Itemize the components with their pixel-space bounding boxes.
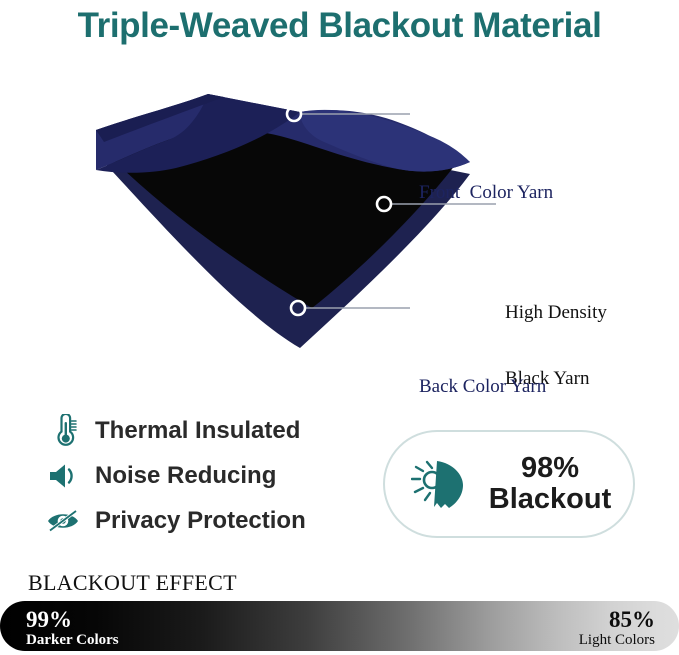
darker-colors-label: Darker Colors: [26, 633, 119, 649]
feature-item-privacy-protection: Privacy Protection: [44, 498, 354, 543]
title-bar: Triple-Weaved Blackout Material: [0, 0, 679, 52]
triple-layer-fabric-diagram: Front Color Yarn High Density Black Yarn…: [0, 78, 679, 363]
badge-text: 98% Blackout: [489, 453, 611, 514]
feature-list: Thermal Insulated Noise Reducing Privacy…: [44, 408, 354, 543]
diagram-label-front-color-yarn: Front Color Yarn: [419, 182, 553, 204]
speaker-sound-icon: [44, 456, 84, 496]
diagram-label-back-color-yarn: Back Color Yarn: [419, 376, 546, 398]
feature-label: Thermal Insulated: [95, 417, 300, 445]
feature-label: Privacy Protection: [95, 507, 306, 535]
diagram-label-high-density-black-yarn: High Density Black Yarn: [505, 258, 607, 434]
light-colors-label: Light Colors: [579, 633, 655, 649]
badge-percent: 98%: [489, 453, 611, 484]
gradient-bar-right-value: 85% Light Colors: [579, 608, 655, 649]
diagram-label-line-1: High Density: [505, 302, 607, 324]
eye-slash-icon: [44, 501, 84, 541]
badge-word: Blackout: [489, 484, 611, 515]
feature-item-noise-reducing: Noise Reducing: [44, 453, 354, 498]
feature-item-thermal-insulated: Thermal Insulated: [44, 408, 354, 453]
gradient-bar-left-value: 99% Darker Colors: [26, 608, 119, 649]
sun-blocked-by-curtain-icon: [407, 452, 479, 516]
thermometer-icon: [44, 411, 84, 451]
page-title: Triple-Weaved Blackout Material: [78, 6, 602, 46]
light-colors-percent: 85%: [579, 608, 655, 632]
darker-colors-percent: 99%: [26, 608, 119, 632]
blackout-badge: 98% Blackout: [383, 430, 635, 538]
blackout-effect-heading: BLACKOUT EFFECT: [28, 570, 237, 596]
feature-label: Noise Reducing: [95, 462, 276, 490]
